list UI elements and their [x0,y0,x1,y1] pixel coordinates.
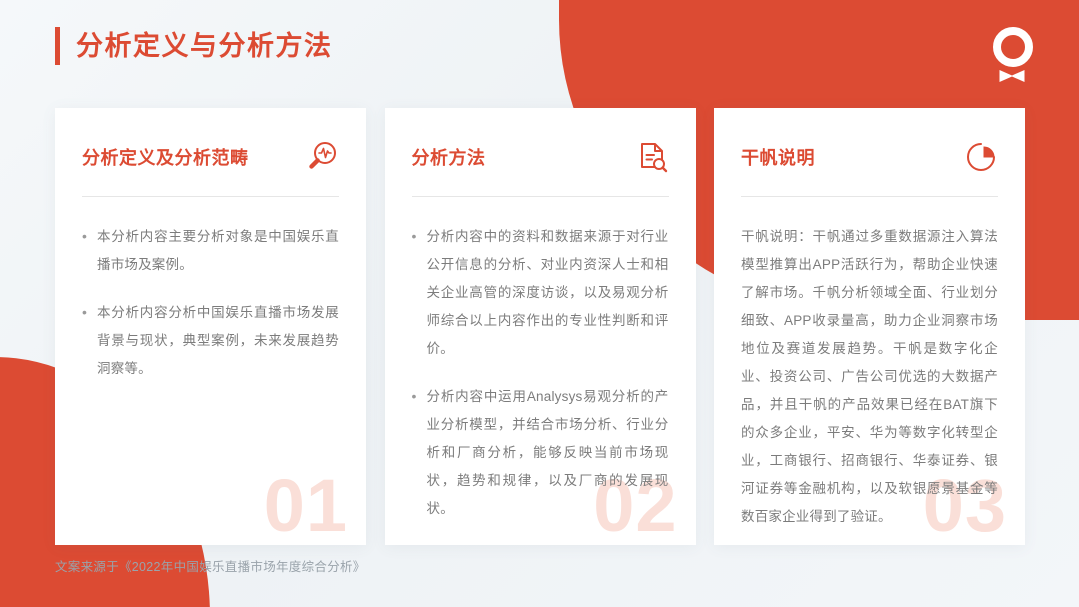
list-item: 本分析内容主要分析对象是中国娱乐直播市场及案例。 [82,223,339,279]
list-item: 分析内容中的资料和数据来源于对行业公开信息的分析、对业内资深人士和相关企业高管的… [412,223,669,363]
pie-chart-icon [964,140,998,174]
card-divider [412,196,669,197]
card-row: 分析定义及分析范畴 本分析内容主要分析对象是中国娱乐直播市场及案例。 本分析内容… [55,108,1025,545]
card-body: 分析内容中的资料和数据来源于对行业公开信息的分析、对业内资深人士和相关企业高管的… [412,223,669,523]
list-item: 本分析内容分析中国娱乐直播市场发展背景与现状，典型案例，未来发展趋势洞察等。 [82,299,339,383]
bullet-list: 分析内容中的资料和数据来源于对行业公开信息的分析、对业内资深人士和相关企业高管的… [412,223,669,523]
card-analysis-definition[interactable]: 分析定义及分析范畴 本分析内容主要分析对象是中国娱乐直播市场及案例。 本分析内容… [55,108,366,545]
list-item: 分析内容中运用Analysys易观分析的产业分析模型，并结合市场分析、行业分析和… [412,383,669,523]
card-header: 分析定义及分析范畴 [82,140,339,174]
page-title: 分析定义与分析方法 [76,33,333,60]
card-analysis-method[interactable]: 分析方法 分析内容中的资料和数据来源于对行业公开信息的分析、对业内资深人士和相关… [385,108,696,545]
bullet-list: 本分析内容主要分析对象是中国娱乐直播市场及案例。 本分析内容分析中国娱乐直播市场… [82,223,339,383]
card-divider [741,196,998,197]
card-body: 本分析内容主要分析对象是中国娱乐直播市场及案例。 本分析内容分析中国娱乐直播市场… [82,223,339,383]
card-divider [82,196,339,197]
card-header: 干帆说明 [741,140,998,174]
document-search-icon [635,140,669,174]
slide-canvas: 分析定义与分析方法 分析定义及分析范畴 [0,0,1079,607]
card-qianfan-description[interactable]: 干帆说明 干帆说明：干帆通过多重数据源注入算法模型推算出APP活跃行为，帮助企业… [714,108,1025,545]
card-paragraph: 干帆说明：干帆通过多重数据源注入算法模型推算出APP活跃行为，帮助企业快速了解市… [741,223,998,531]
card-body: 干帆说明：干帆通过多重数据源注入算法模型推算出APP活跃行为，帮助企业快速了解市… [741,223,998,531]
footer-source-note: 文案来源于《2022年中国娱乐直播市场年度综合分析》 [55,556,366,575]
card-title: 分析方法 [412,144,486,170]
slide-header: 分析定义与分析方法 [55,27,333,65]
card-number-watermark: 01 [264,469,348,543]
analysys-logo [985,26,1041,86]
card-title: 干帆说明 [741,144,815,170]
title-accent-bar [55,27,60,65]
card-header: 分析方法 [412,140,669,174]
magnifier-pulse-icon [305,140,339,174]
card-title: 分析定义及分析范畴 [82,144,249,170]
